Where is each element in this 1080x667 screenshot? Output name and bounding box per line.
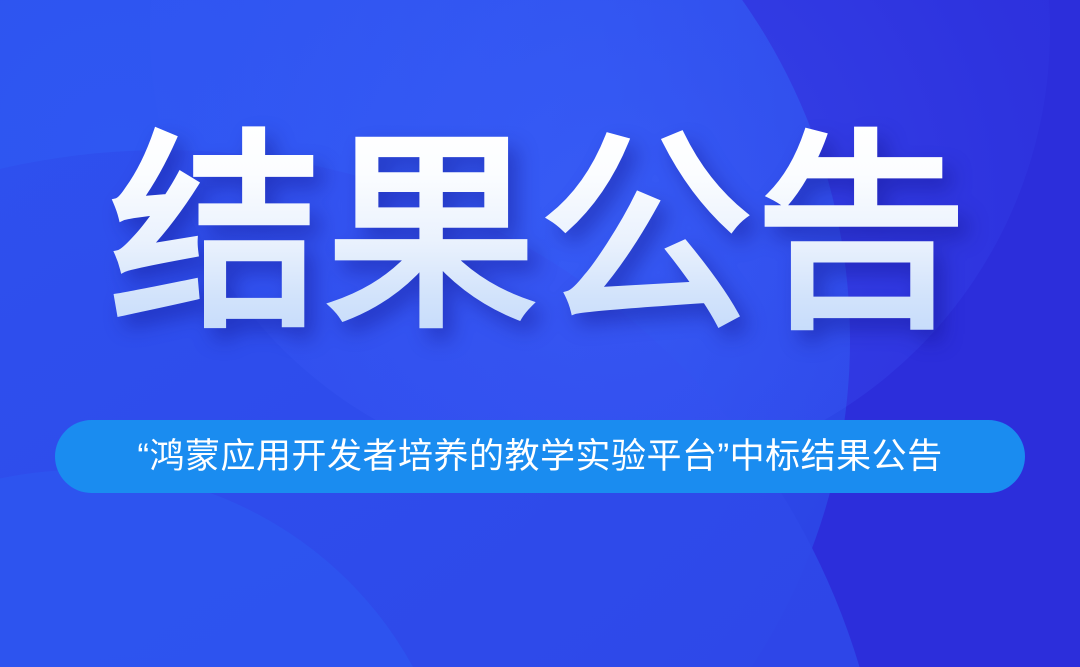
subtitle-banner: “鸿蒙应用开发者培养的教学实验平台”中标结果公告 bbox=[55, 420, 1025, 493]
page-title: 结果公告 bbox=[104, 126, 976, 344]
background-bright-wedge bbox=[0, 470, 460, 667]
page-title-container: 结果公告 bbox=[0, 126, 1080, 344]
subtitle-banner-container: “鸿蒙应用开发者培养的教学实验平台”中标结果公告 bbox=[0, 420, 1080, 493]
subtitle-text: “鸿蒙应用开发者培养的教学实验平台”中标结果公告 bbox=[137, 439, 942, 474]
announcement-poster: 结果公告 “鸿蒙应用开发者培养的教学实验平台”中标结果公告 bbox=[0, 0, 1080, 667]
